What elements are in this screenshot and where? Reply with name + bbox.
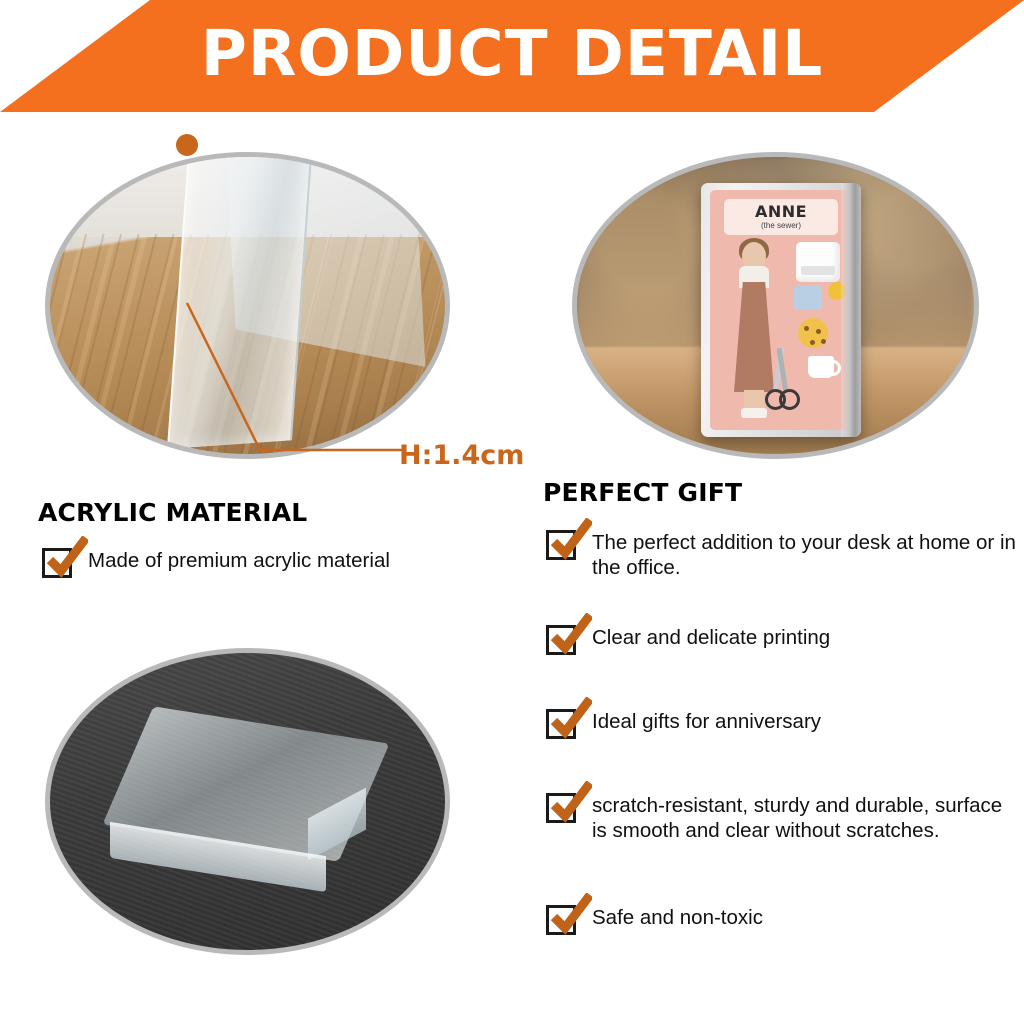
list-item-label: Ideal gifts for anniversary bbox=[592, 709, 821, 734]
list-item-label: Made of premium acrylic material bbox=[88, 548, 390, 573]
fabric-swatch-icon bbox=[794, 286, 822, 310]
scissors-ring-right bbox=[779, 389, 800, 410]
cookie-icon bbox=[798, 318, 828, 348]
checkbox-icon bbox=[546, 905, 576, 935]
check-mark-icon bbox=[550, 518, 592, 560]
page-title: PRODUCT DETAIL bbox=[201, 22, 824, 91]
package-name: ANNE bbox=[724, 202, 838, 221]
list-item-label: Clear and delicate printing bbox=[592, 625, 830, 650]
check-mark-icon bbox=[550, 697, 592, 739]
header-banner: PRODUCT DETAIL bbox=[0, 0, 1024, 112]
checkbox-icon bbox=[546, 625, 576, 655]
list-item: scratch-resistant, sturdy and durable, s… bbox=[546, 793, 1022, 843]
acrylic-edge-photo bbox=[45, 152, 450, 459]
acrylic-block-photo bbox=[45, 648, 450, 955]
package-name-plate: ANNE (the sewer) bbox=[724, 199, 838, 235]
checkbox-icon bbox=[546, 709, 576, 739]
product-package: ANNE (the sewer) bbox=[701, 183, 861, 437]
checkbox-icon bbox=[546, 793, 576, 823]
list-item: Clear and delicate printing bbox=[546, 625, 830, 655]
check-mark-icon bbox=[550, 893, 592, 935]
check-mark-icon bbox=[550, 613, 592, 655]
checkbox-icon bbox=[42, 548, 72, 578]
package-subtitle: (the sewer) bbox=[724, 221, 838, 230]
acrylic-panel-front bbox=[167, 152, 313, 449]
checkbox-icon bbox=[546, 530, 576, 560]
dimension-label: H:1.4cm bbox=[399, 440, 524, 471]
sewing-machine-icon bbox=[796, 242, 840, 282]
coffee-mug-icon bbox=[808, 356, 834, 378]
list-item: Made of premium acrylic material bbox=[42, 548, 390, 578]
package-foil-edge bbox=[841, 183, 861, 437]
check-mark-icon bbox=[46, 536, 88, 578]
scissors-icon bbox=[762, 348, 796, 410]
check-mark-icon bbox=[550, 781, 592, 823]
header-corner-right bbox=[874, 0, 1024, 112]
list-item: Ideal gifts for anniversary bbox=[546, 709, 821, 739]
package-card: ANNE (the sewer) bbox=[710, 190, 852, 430]
section-title-acrylic-material: ACRYLIC MATERIAL bbox=[38, 498, 307, 527]
section-title-perfect-gift: PERFECT GIFT bbox=[543, 478, 742, 507]
list-item-label: Safe and non-toxic bbox=[592, 905, 763, 930]
list-item-label: scratch-resistant, sturdy and durable, s… bbox=[592, 793, 1022, 843]
list-item: The perfect addition to your desk at hom… bbox=[546, 530, 1022, 580]
dimension-anchor-dot bbox=[176, 134, 198, 156]
list-item: Safe and non-toxic bbox=[546, 905, 763, 935]
list-item-label: The perfect addition to your desk at hom… bbox=[592, 530, 1022, 580]
header-corner-left bbox=[0, 0, 150, 112]
gift-package-photo: ANNE (the sewer) bbox=[572, 152, 979, 459]
